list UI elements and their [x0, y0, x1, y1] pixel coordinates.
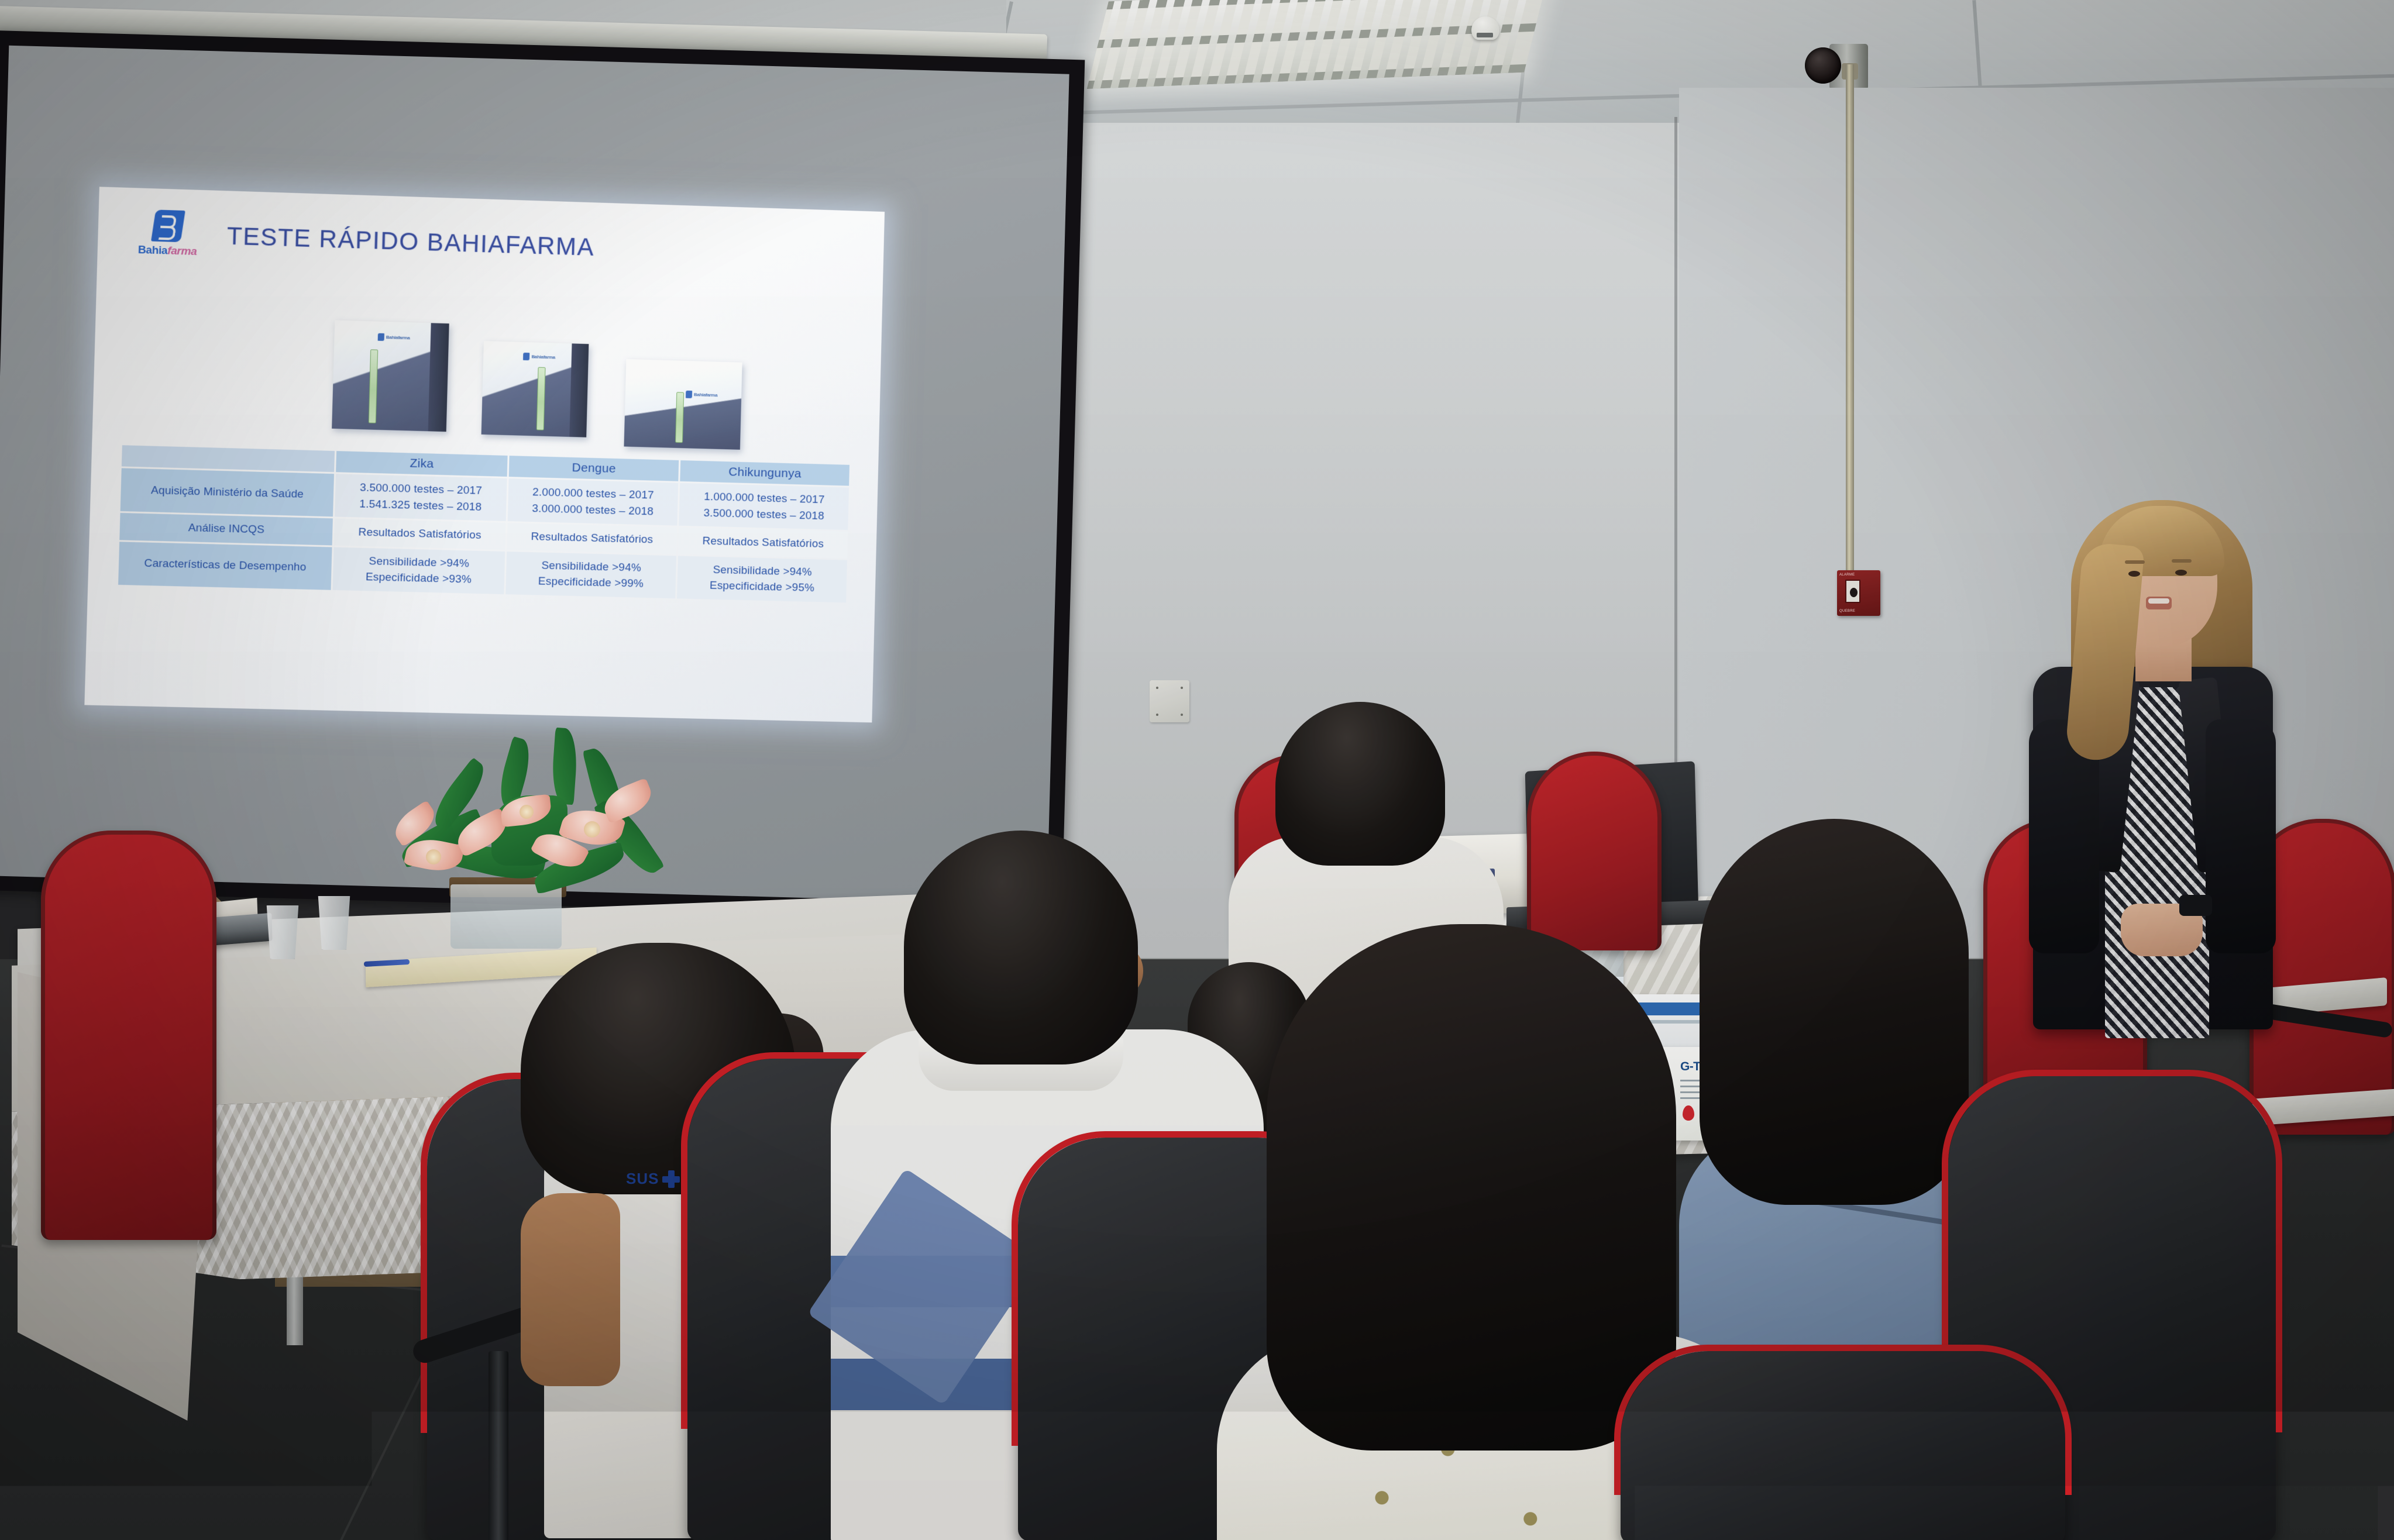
smoke-detector-icon — [1471, 16, 1499, 40]
electrical-conduit — [1846, 64, 1854, 597]
rear-attendee-head — [1275, 702, 1445, 866]
presenter-mouth — [2146, 597, 2172, 609]
comparison-table: Zika Dengue Chikungunya Aquisição Minist… — [116, 443, 851, 604]
presenter-eye-right — [2175, 570, 2187, 576]
slide-title: TESTE RÁPIDO BAHIAFARMA — [226, 222, 594, 261]
bahiafarma-b-mark-icon — [151, 210, 185, 243]
slide-comparison-table: Zika Dengue Chikungunya Aquisição Minist… — [116, 443, 851, 604]
attendee-head — [1700, 819, 1969, 1205]
attendee-arm — [521, 1193, 620, 1386]
row-label-aquisicao: Aquisição Ministério da Saúde — [121, 468, 334, 516]
row-label-caracteristicas: Características de Desempenho — [118, 542, 332, 590]
presenter-brow-right — [2172, 559, 2192, 563]
attendee-head — [904, 831, 1138, 1064]
attendee-head — [1267, 924, 1676, 1451]
fire-alarm-pull-station[interactable]: ALARME QUEBRE — [1837, 570, 1880, 616]
plastic-cup[interactable] — [264, 905, 301, 959]
sus-logo: SUS — [626, 1170, 680, 1188]
security-camera-icon — [1805, 44, 1869, 89]
column-header-chikungunya: Chikungunya — [680, 460, 849, 486]
cell-aquisicao-chikungunya: 1.000.000 testes – 2017 3.500.000 testes… — [679, 483, 849, 530]
kit-image-row: Bahiafarma Bahiafarma Bahiafarma — [92, 313, 882, 446]
presenter-eye-left — [2128, 571, 2140, 577]
cell-incqs-chikungunya: Resultados Satisfatórios — [678, 528, 848, 559]
flower-arrangement — [386, 755, 673, 901]
slide-header: Bahiafarma TESTE RÁPIDO BAHIAFARMA — [128, 209, 595, 271]
black-red-office-chair[interactable] — [1621, 1351, 2065, 1540]
cell-desempenho-chikungunya: Sensibilidade >94% Especificidade >95% — [677, 556, 847, 602]
chair-stem — [489, 1351, 508, 1540]
cell-aquisicao-zika: 3.500.000 testes – 2017 1.541.325 testes… — [335, 474, 507, 521]
red-conference-chair[interactable] — [1527, 752, 1662, 950]
row-label-analise-incqs: Análise INCQS — [119, 513, 333, 545]
presenter-wristwatch — [2179, 895, 2212, 916]
blank-wall-plate[interactable] — [1150, 680, 1189, 722]
sus-cross-icon — [662, 1170, 680, 1188]
cell-desempenho-zika: Sensibilidade >94% Especificidade >93% — [333, 547, 505, 594]
brand-second: farma — [167, 244, 197, 258]
projected-slide: Bahiafarma TESTE RÁPIDO BAHIAFARMA Bahia… — [84, 187, 885, 722]
sus-logo-text: SUS — [626, 1170, 659, 1188]
cell-incqs-zika: Resultados Satisfatórios — [334, 518, 506, 549]
presenter-brow-left — [2125, 560, 2145, 564]
column-header-dengue: Dengue — [508, 456, 679, 481]
column-header-zika: Zika — [336, 451, 507, 477]
presenter-arm-right — [2206, 719, 2276, 953]
plastic-cup[interactable] — [316, 896, 352, 950]
presentation-room-photo: ALARME QUEBRE Bahiafarma TESTE RÁPIDO BA… — [0, 0, 2394, 1540]
blood-drop-icon — [1683, 1105, 1694, 1121]
cell-incqs-dengue: Resultados Satisfatórios — [507, 523, 677, 554]
cell-aquisicao-dengue: 2.000.000 testes – 2017 3.000.000 testes… — [507, 478, 678, 526]
red-conference-chair[interactable] — [41, 831, 216, 1240]
zika-kit-box-image: Bahiafarma — [332, 320, 449, 432]
bahiafarma-wordmark: Bahiafarma — [128, 243, 207, 259]
dengue-kit-box-image: Bahiafarma — [481, 341, 589, 437]
brand-first: Bahia — [138, 244, 168, 257]
bahiafarma-logo: Bahiafarma — [128, 209, 208, 259]
table-corner-cell — [122, 445, 335, 472]
cell-desempenho-dengue: Sensibilidade >94% Especificidade >99% — [505, 552, 676, 598]
chikungunya-kit-box-image: Bahiafarma — [624, 359, 742, 450]
